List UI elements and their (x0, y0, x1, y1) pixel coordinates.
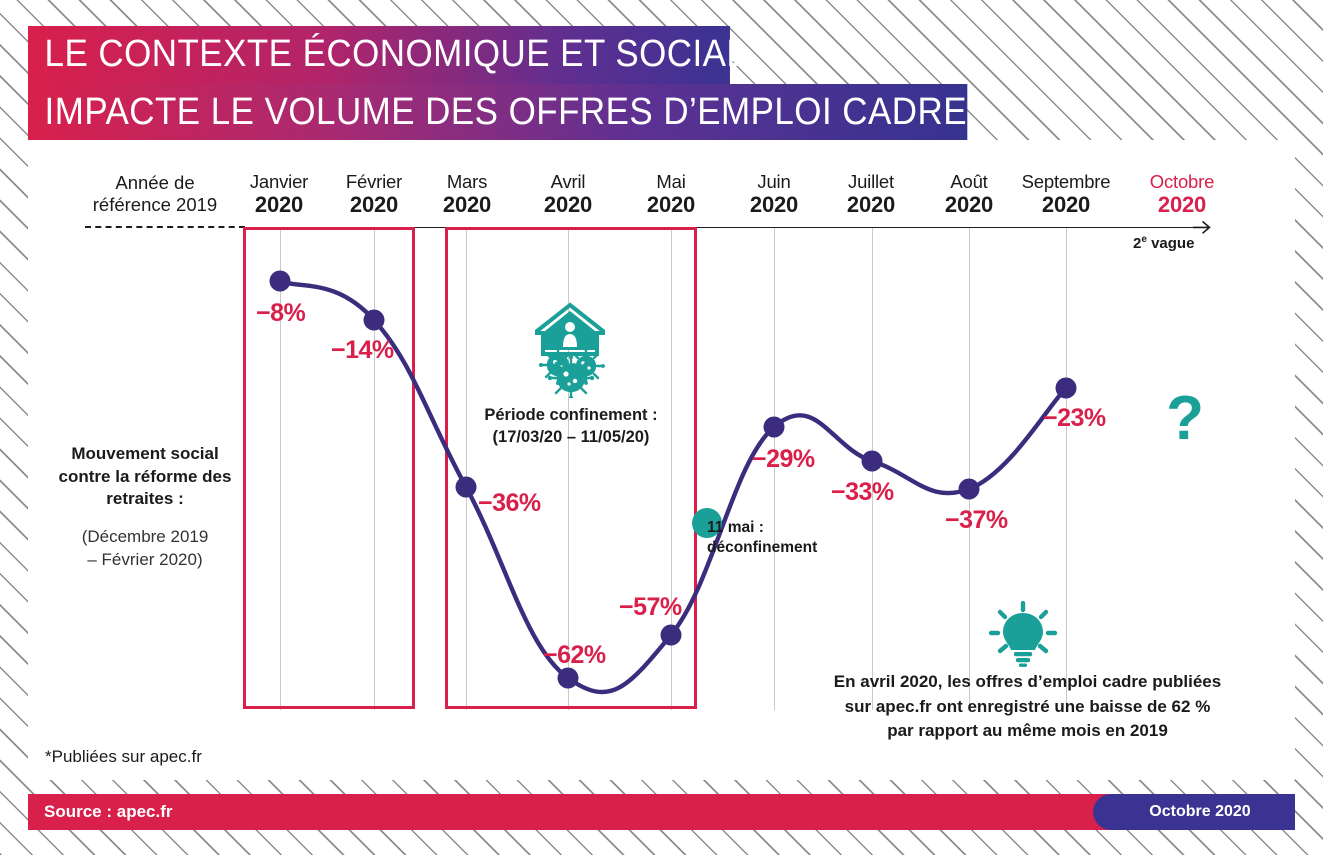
house-virus-icon (523, 302, 617, 398)
april-note-line2: sur apec.fr ont enregistré une baisse de… (845, 697, 1211, 716)
value-label: −8% (256, 299, 305, 328)
value-label: −23% (1043, 404, 1106, 433)
value-label: −37% (945, 506, 1008, 535)
data-point-marker (764, 417, 785, 438)
data-point-marker (661, 625, 682, 646)
lightbulb-icon (988, 601, 1058, 667)
april-note-line3: par rapport au même mois en 2019 (887, 721, 1168, 740)
value-label: −57% (619, 593, 682, 622)
social-movement-title: Mouvement social contre la réforme des r… (52, 443, 238, 511)
deconfinement-note: 11 mai : déconfinement (707, 518, 857, 558)
data-point-marker (862, 451, 883, 472)
data-point-marker (270, 271, 291, 292)
social-movement-dates: (Décembre 2019 – Février 2020) (52, 526, 238, 572)
data-point-markers (270, 271, 1077, 689)
value-label: −29% (752, 445, 815, 474)
deconfinement-note-line1: 11 mai : (707, 519, 764, 536)
value-label: −33% (831, 478, 894, 507)
social-movement-dates-line2: – Février 2020) (87, 550, 202, 569)
footer-source-text: Source : apec.fr (44, 802, 173, 822)
confinement-note-line1: Période confinement : (484, 406, 657, 424)
value-label: −36% (478, 489, 541, 518)
data-point-marker (456, 477, 477, 498)
april-highlight-note: En avril 2020, les offres d’emploi cadre… (800, 670, 1255, 744)
deconfinement-note-line2: déconfinement (707, 539, 817, 556)
data-point-marker (1056, 378, 1077, 399)
data-point-marker (558, 668, 579, 689)
value-label: −14% (331, 336, 394, 365)
infographic-root: LE CONTEXTE ÉCONOMIQUE ET SOCIAL IMPACTE… (0, 0, 1323, 855)
social-movement-dates-line1: (Décembre 2019 (82, 527, 209, 546)
footnote: *Publiées sur apec.fr (45, 747, 202, 767)
april-note-line1: En avril 2020, les offres d’emploi cadre… (834, 672, 1221, 691)
value-label: −62% (543, 641, 606, 670)
confinement-note-line2: (17/03/20 – 11/05/20) (493, 428, 650, 446)
social-movement-note: Mouvement social contre la réforme des r… (52, 443, 238, 572)
data-point-marker (959, 479, 980, 500)
data-point-marker (364, 310, 385, 331)
question-mark-icon: ? (1162, 390, 1208, 448)
footer-source-bar (28, 794, 1143, 830)
footer-date-text: Octobre 2020 (1120, 803, 1280, 821)
confinement-note: Période confinement : (17/03/20 – 11/05/… (446, 404, 696, 448)
